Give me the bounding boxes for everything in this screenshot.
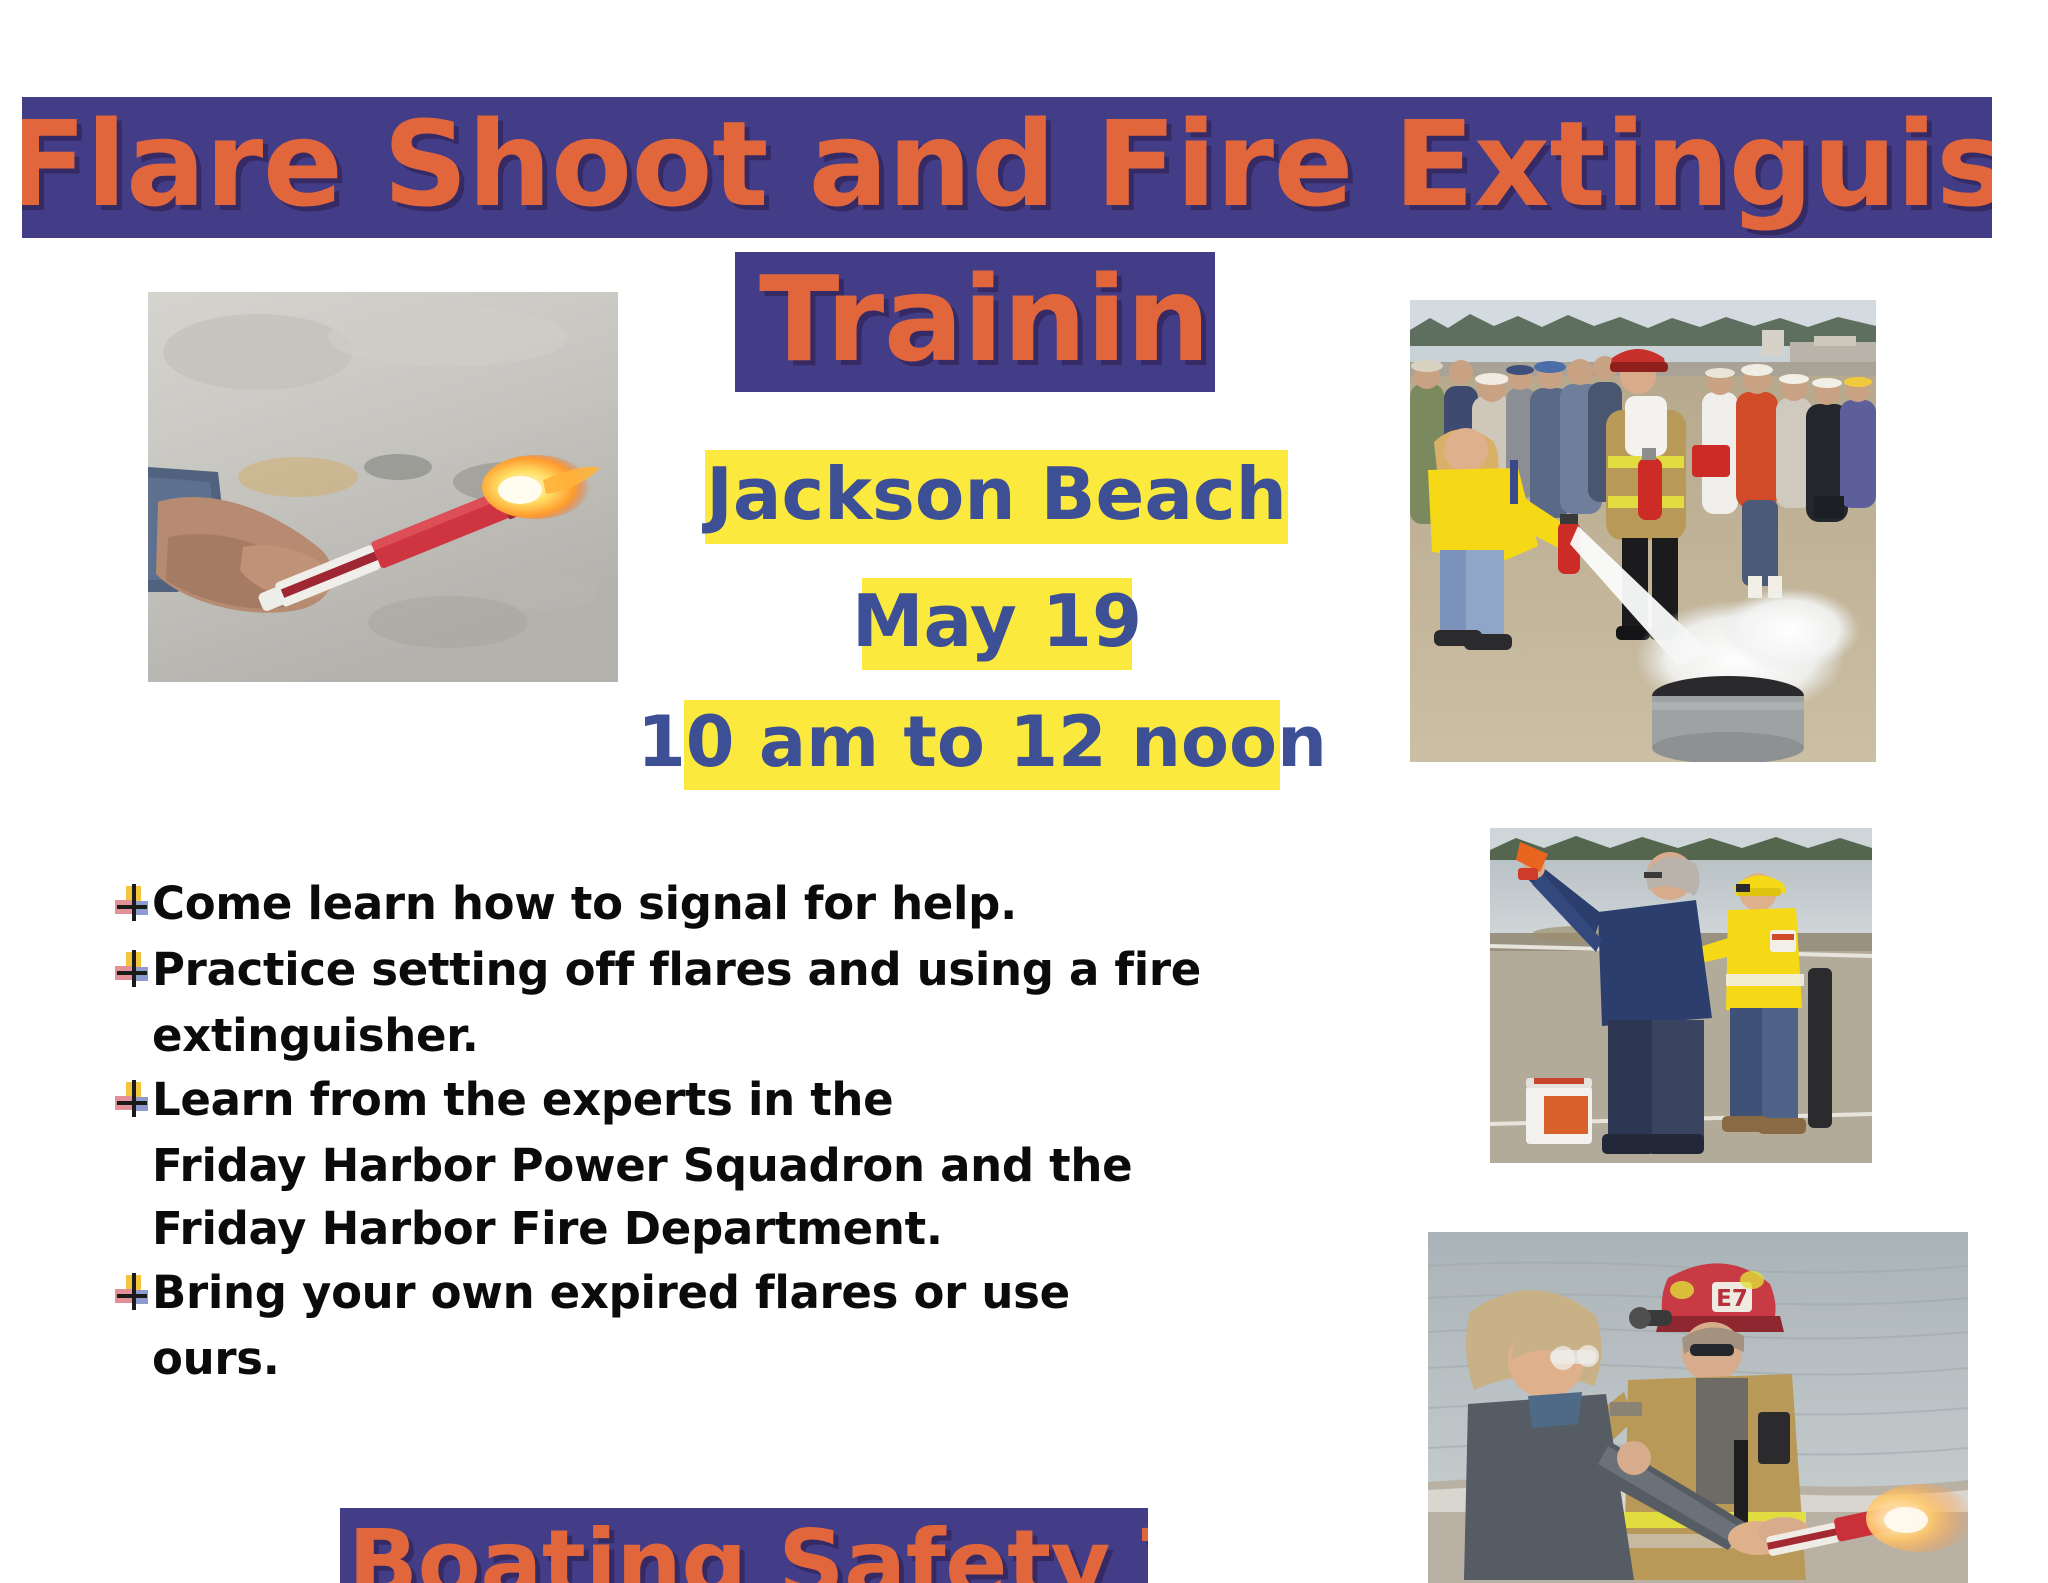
photo-handheld-flare [148, 292, 618, 682]
date-highlight: May 19 [862, 578, 1132, 670]
list-item-label: Bring your own expired flares or use [152, 1261, 1070, 1325]
bottom-banner: Boating Safety Training [340, 1508, 1148, 1583]
photo-extinguisher-demo-image [1410, 300, 1876, 762]
colored-cross-bullet-icon [112, 950, 150, 988]
svg-text:E7: E7 [1716, 1286, 1748, 1312]
title-banner: Flare Shoot and Fire Extinguisher [22, 97, 1992, 238]
photo-extinguisher-demo [1410, 300, 1876, 762]
photo-aerial-flare-launch-image [1490, 828, 1872, 1163]
photo-aerial-flare-launch [1490, 828, 1872, 1163]
list-item-label: Come learn how to signal for help. [152, 872, 1017, 936]
title-line1-text: Flare Shoot and Fire Extinguisher [22, 105, 1992, 223]
colored-cross-bullet-icon [112, 884, 150, 922]
location-highlight: Jackson Beach [705, 450, 1288, 544]
photo-firefighter-assisting: E7 [1428, 1232, 1968, 1583]
flyer-poster: Flare Shoot and Fire Extinguisher Traini… [0, 0, 2048, 1583]
colored-cross-bullet-icon [112, 1273, 150, 1311]
list-item: Come learn how to signal for help. [112, 872, 1292, 936]
colored-cross-bullet-icon [112, 1080, 150, 1118]
time-highlight: 10 am to 12 noon [684, 700, 1280, 790]
list-item: Bring your own expired flares or use [112, 1261, 1292, 1325]
list-item-continuation: extinguisher. [112, 1004, 1292, 1068]
list-item-continuation: ours. [112, 1327, 1292, 1391]
bullet-list: Come learn how to signal for help. Pract… [112, 872, 1292, 1391]
list-item: Learn from the experts in the [112, 1068, 1292, 1132]
list-item-continuation: Friday Harbor Fire Department. [112, 1197, 1292, 1261]
list-item-label: Learn from the experts in the [152, 1068, 893, 1132]
list-item-continuation: Friday Harbor Power Squadron and the [112, 1134, 1292, 1198]
photo-handheld-flare-image [148, 292, 618, 682]
bottom-banner-text: Boating Safety Training [348, 1518, 1148, 1583]
subtitle-banner: Training [735, 252, 1215, 392]
list-item: Practice setting off flares and using a … [112, 938, 1292, 1002]
photo-firefighter-assisting-image: E7 [1428, 1232, 1968, 1583]
title-line2-text: Training [759, 260, 1215, 378]
list-item-label: Practice setting off flares and using a … [152, 938, 1201, 1002]
